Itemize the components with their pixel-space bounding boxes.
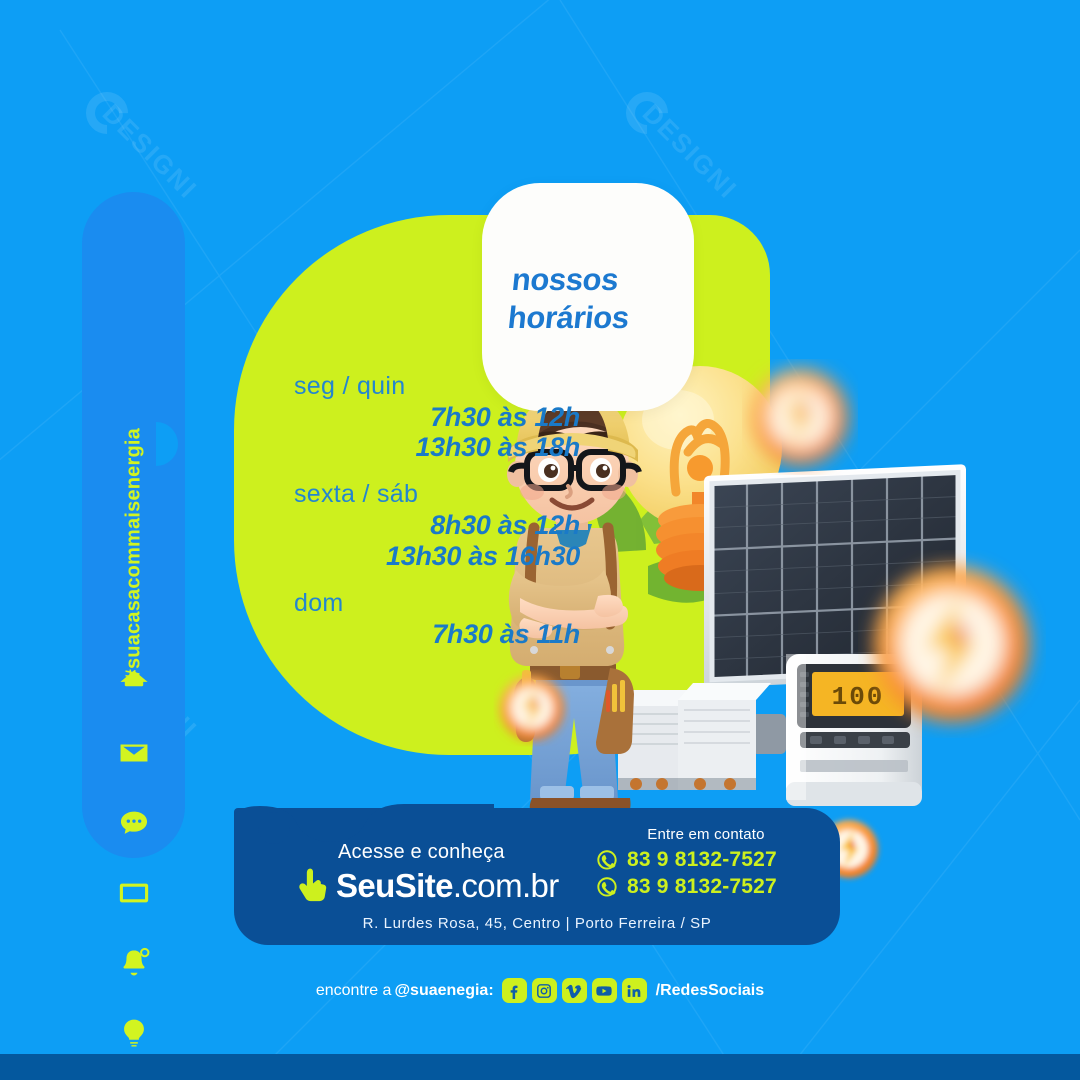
schedule-time: 8h30 às 12h [284, 510, 584, 540]
youtube-icon[interactable] [592, 978, 617, 1003]
schedule-time: 13h30 às 16h30 [284, 541, 584, 571]
sidebar-notch [156, 422, 178, 466]
watermark-text: DESIGNI [96, 98, 203, 205]
schedule-time: 13h30 às 18h [284, 432, 584, 462]
facebook-icon[interactable] [502, 978, 527, 1003]
bottom-strip [0, 1054, 1080, 1080]
poster-canvas: DESIGNI DESIGNI DESIGNI DESIGNI DESIGNI … [0, 0, 1080, 1080]
social-prefix: encontre a [316, 982, 392, 1000]
phone-number: 83 9 8132-7527 [627, 875, 777, 899]
phone-row[interactable]: 83 9 8132-7527 [596, 875, 816, 899]
site-link[interactable]: SeuSite.com.br [296, 865, 559, 907]
schedule-group: sexta / sáb 8h30 às 12h 13h30 às 16h30 [284, 480, 584, 570]
site-domain: .com.br [453, 867, 559, 904]
home-icon[interactable] [117, 666, 151, 700]
address-text: R. Lurdes Rosa, 45, Centro | Porto Ferre… [234, 915, 840, 932]
social-handle: @suaenegia: [394, 982, 493, 1000]
whatsapp-icon [596, 876, 618, 898]
site-name: SeuSite [336, 867, 453, 904]
pointing-hand-icon [296, 865, 330, 907]
schedule-block: seg / quin 7h30 às 12h 13h30 às 18h sext… [284, 372, 584, 649]
vimeo-icon[interactable] [562, 978, 587, 1003]
footer-dot-decoration [258, 812, 290, 844]
left-sidebar: #suacasacommaisenergia [82, 192, 185, 858]
title-text: nossos horários [506, 261, 684, 337]
schedule-time: 7h30 às 11h [284, 619, 584, 649]
watermark-logo-icon [777, 603, 836, 662]
schedule-day-label: seg / quin [284, 372, 584, 401]
watermark-logo-icon [77, 83, 136, 142]
bell-icon[interactable] [117, 946, 151, 980]
schedule-group: seg / quin 7h30 às 12h 13h30 às 18h [284, 372, 584, 462]
title-line-1: nossos [510, 261, 684, 299]
site-text: SeuSite.com.br [336, 867, 559, 905]
phone-row[interactable]: 83 9 8132-7527 [596, 848, 816, 872]
linkedin-icon[interactable] [622, 978, 647, 1003]
social-row: encontre a @suaenegia: /RedesSociais [0, 978, 1080, 1003]
power-meter: 100 [786, 654, 922, 806]
watermark-logo-icon [617, 83, 676, 142]
meter-display: 100 [832, 682, 885, 712]
lightbulb-icon[interactable] [117, 1016, 151, 1050]
window-icon[interactable] [117, 876, 151, 910]
social-suffix: /RedesSociais [656, 982, 765, 1000]
instagram-icon[interactable] [532, 978, 557, 1003]
schedule-group: dom 7h30 às 11h [284, 589, 584, 649]
hashtag-label: #suacasacommaisenergia [122, 428, 145, 680]
title-line-2: horários [506, 299, 680, 337]
phone-number: 83 9 8132-7527 [627, 848, 777, 872]
envelope-icon[interactable] [117, 736, 151, 770]
watermark-text: DESIGNI [796, 618, 903, 725]
acesse-label: Acesse e conheça [338, 841, 505, 864]
contact-block: Entre em contato 83 9 8132-7527 83 9 813… [596, 826, 816, 902]
schedule-day-label: dom [284, 589, 584, 618]
lightning-badge [874, 566, 1030, 722]
whatsapp-icon [596, 849, 618, 871]
schedule-time: 7h30 às 12h [284, 402, 584, 432]
schedule-day-label: sexta / sáb [284, 480, 584, 509]
chat-bubble-icon[interactable] [117, 806, 151, 840]
contact-label: Entre em contato [596, 826, 816, 843]
